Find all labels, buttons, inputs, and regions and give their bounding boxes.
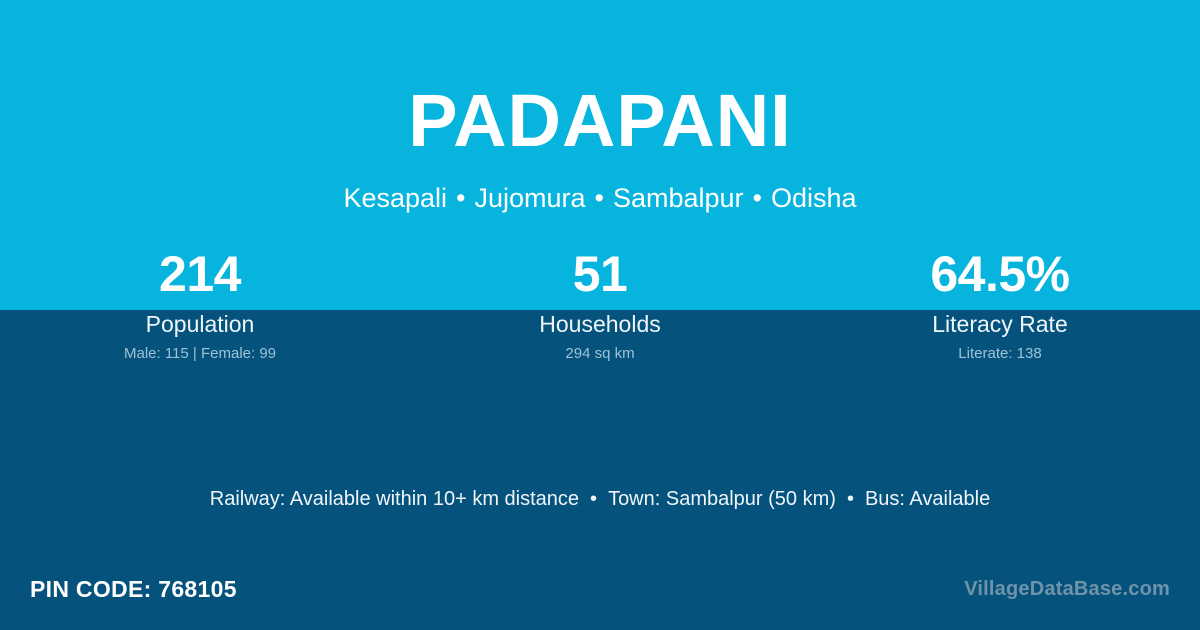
- breadcrumb-segment[interactable]: Jujomura: [474, 183, 585, 213]
- stat-literacy-rate: 64.5%Literacy RateLiterate: 138: [800, 243, 1200, 363]
- pin-code-label: PIN CODE: 768105: [30, 574, 237, 604]
- infrastructure-item-railway: Railway: Available within 10+ km distanc…: [210, 488, 579, 510]
- infrastructure-item-town: Town: Sambalpur (50 km): [608, 488, 836, 510]
- breadcrumb-separator: •: [586, 184, 613, 214]
- infrastructure-line: Railway: Available within 10+ km distanc…: [0, 486, 1200, 512]
- stat-detail: 294 sq km: [400, 344, 800, 363]
- village-info-card: PADAPANI Kesapali•Jujomura•Sambalpur•Odi…: [0, 0, 1200, 630]
- stat-detail: Male: 115 | Female: 99: [0, 344, 400, 363]
- breadcrumb-segment[interactable]: Kesapali: [343, 183, 447, 213]
- stat-label: Population: [0, 310, 400, 338]
- stat-label: Households: [400, 310, 800, 338]
- stat-value: 64.5%: [800, 243, 1200, 305]
- stat-population: 214PopulationMale: 115 | Female: 99: [0, 243, 400, 363]
- page-title: PADAPANI: [0, 84, 1200, 158]
- breadcrumb: Kesapali•Jujomura•Sambalpur•Odisha: [0, 184, 1200, 214]
- breadcrumb-segment[interactable]: Odisha: [771, 183, 857, 213]
- stats-row: 214PopulationMale: 115 | Female: 9951Hou…: [0, 243, 1200, 363]
- infrastructure-separator: •: [579, 486, 608, 512]
- site-brand-label: VillageDataBase.com: [964, 574, 1170, 604]
- breadcrumb-segment[interactable]: Sambalpur: [613, 183, 744, 213]
- breadcrumb-separator: •: [744, 184, 771, 214]
- breadcrumb-separator: •: [447, 184, 474, 214]
- stat-value: 214: [0, 243, 400, 305]
- stat-detail: Literate: 138: [800, 344, 1200, 363]
- stat-label: Literacy Rate: [800, 310, 1200, 338]
- infrastructure-separator: •: [836, 486, 865, 512]
- infrastructure-item-bus: Bus: Available: [865, 488, 990, 510]
- stat-value: 51: [400, 243, 800, 305]
- stat-households: 51Households294 sq km: [400, 243, 800, 363]
- footer: PIN CODE: 768105 VillageDataBase.com: [0, 569, 1200, 609]
